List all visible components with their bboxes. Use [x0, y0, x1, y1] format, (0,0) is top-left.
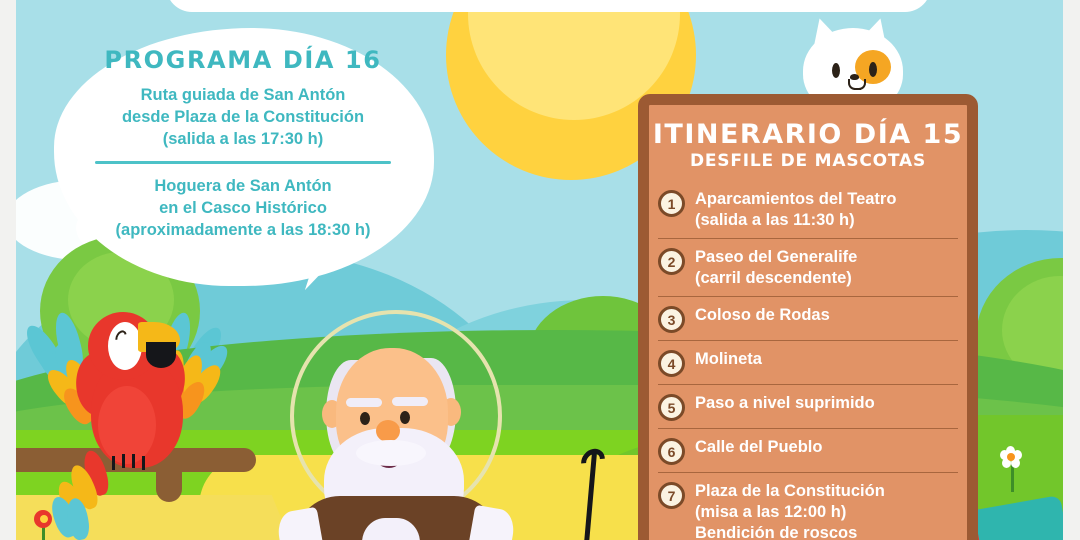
itinerary-item-text: Plaza de la Constitución(misa a las 12:0…: [695, 480, 885, 540]
top-speech-bubble-cropped: [166, 0, 931, 12]
itinerary-item-line: Calle del Pueblo: [695, 437, 822, 458]
itinerary-item[interactable]: 7Plaza de la Constitución(misa a las 12:…: [658, 473, 958, 540]
itinerary-item-line: Bendición de roscos: [695, 523, 885, 540]
parrot-foot: [122, 454, 125, 468]
parrot-face-patch: [108, 322, 142, 370]
programa-line: (aproximadamente a las 18:30 h): [60, 219, 426, 241]
programa-line: Hoguera de San Antón: [60, 175, 426, 197]
parrot-tail: [58, 450, 118, 522]
saint-eyebrow-left: [346, 398, 382, 407]
itinerary-item-line: Molineta: [695, 349, 762, 370]
itinerary-item-line: Plaza de la Constitución: [695, 481, 885, 502]
cat-eye-left: [832, 63, 840, 78]
parrot-foot: [142, 456, 145, 470]
saint-eye-left: [360, 412, 370, 425]
itinerary-item-number: 4: [658, 350, 685, 377]
itinerary-subtitle: DESFILE DE MASCOTAS: [649, 151, 967, 171]
itinerary-board: ITINERARIO DÍA 15 DESFILE DE MASCOTAS 1A…: [638, 94, 978, 540]
itinerary-item-number: 6: [658, 438, 685, 465]
saint-eyebrow-right: [392, 397, 428, 406]
itinerary-item[interactable]: 3Coloso de Rodas: [658, 297, 958, 341]
bubble-divider: [95, 161, 391, 164]
programa-title: PROGRAMA DÍA 16: [60, 46, 426, 74]
itinerary-item[interactable]: 6Calle del Pueblo: [658, 429, 958, 473]
itinerary-item-number: 1: [658, 190, 685, 217]
itinerary-item-text: Calle del Pueblo: [695, 436, 822, 458]
itinerary-item[interactable]: 5Paso a nivel suprimido: [658, 385, 958, 429]
parrot-belly: [98, 386, 156, 464]
saint-nose: [376, 420, 400, 442]
itinerary-item-line: Paseo del Generalife: [695, 247, 857, 268]
itinerary-item-text: Molineta: [695, 348, 762, 370]
parrot-foot: [132, 454, 135, 468]
itinerary-item-number: 5: [658, 394, 685, 421]
itinerary-item-number: 2: [658, 248, 685, 275]
itinerary-item-text: Aparcamientos del Teatro(salida a las 11…: [695, 188, 896, 231]
itinerary-item[interactable]: 1Aparcamientos del Teatro(salida a las 1…: [658, 181, 958, 239]
saint-anton-character: [274, 300, 574, 540]
itinerary-item-text: Paseo del Generalife(carril descendente): [695, 246, 857, 289]
programa-line: Ruta guiada de San Antón: [60, 84, 426, 106]
itinerary-item-line: Coloso de Rodas: [695, 305, 830, 326]
programa-line: en el Casco Histórico: [60, 197, 426, 219]
programa-line: desde Plaza de la Constitución: [60, 106, 426, 128]
itinerary-item-line: (salida a las 11:30 h): [695, 210, 896, 231]
saint-eye-right: [400, 411, 410, 424]
itinerary-item-line: Aparcamientos del Teatro: [695, 189, 896, 210]
cat-eye-right: [869, 62, 877, 77]
saint-mustache: [356, 440, 426, 466]
itinerary-item-number: 3: [658, 306, 685, 333]
parrot-foot: [112, 456, 115, 470]
parrot-character: [36, 300, 226, 510]
itinerary-list: 1Aparcamientos del Teatro(salida a las 1…: [649, 181, 967, 540]
itinerary-item-line: (misa a las 12:00 h): [695, 502, 885, 523]
itinerary-item[interactable]: 2Paseo del Generalife(carril descendente…: [658, 239, 958, 297]
programa-line: (salida a las 17:30 h): [60, 128, 426, 150]
itinerary-title: ITINERARIO DÍA 15: [649, 119, 967, 150]
parrot-beak-lower: [146, 342, 176, 368]
itinerary-item-line: Paso a nivel suprimido: [695, 393, 875, 414]
speech-bubble-content: PROGRAMA DÍA 16 Ruta guiada de San Antón…: [60, 46, 426, 241]
poster-stage: PROGRAMA DÍA 16 Ruta guiada de San Antón…: [16, 0, 1063, 540]
itinerary-item-line: (carril descendente): [695, 268, 857, 289]
itinerary-item-number: 7: [658, 482, 685, 509]
itinerary-item-text: Coloso de Rodas: [695, 304, 830, 326]
itinerary-item-text: Paso a nivel suprimido: [695, 392, 875, 414]
itinerary-item[interactable]: 4Molineta: [658, 341, 958, 385]
